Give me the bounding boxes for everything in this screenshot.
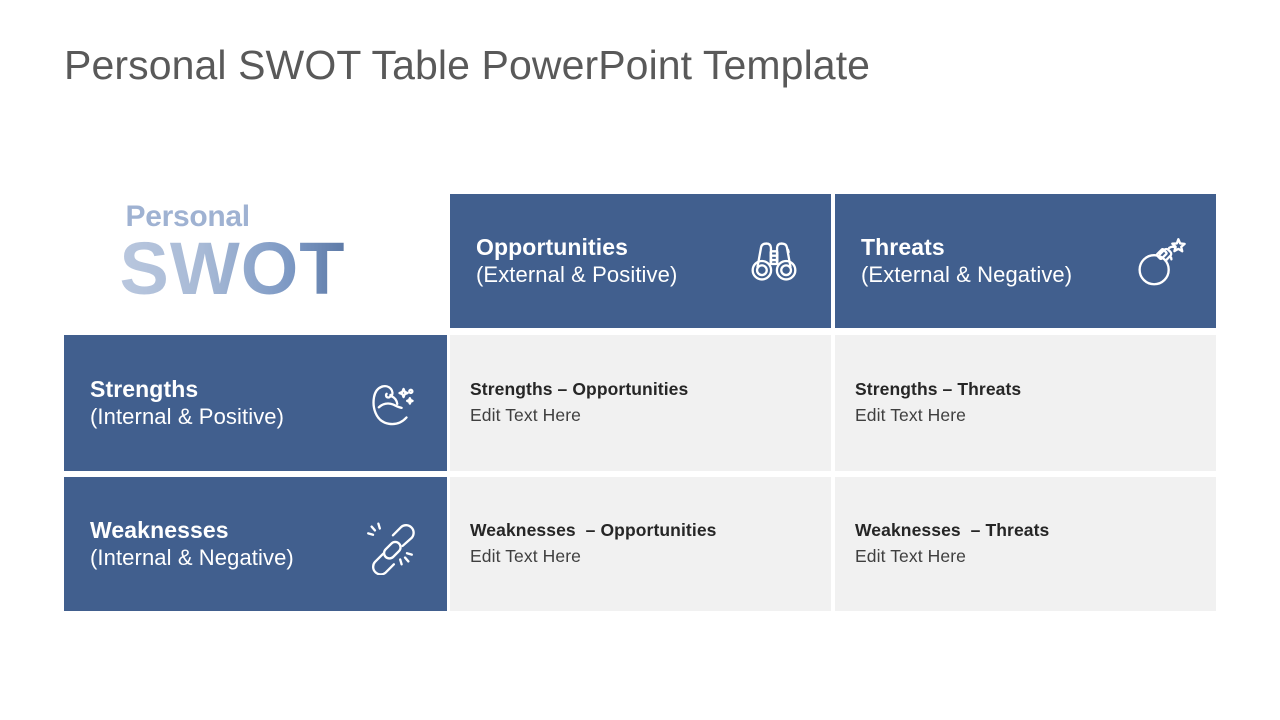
header-weaknesses-title: Weaknesses (90, 517, 294, 544)
cell-weaknesses-threats-title: Weaknesses – Threats (855, 519, 1049, 542)
cell-strengths-opportunities-title: Strengths – Opportunities (470, 378, 688, 401)
header-threats-text: Threats (External & Negative) (861, 234, 1072, 287)
binoculars-icon (743, 230, 805, 292)
header-threats-subtitle: (External & Negative) (861, 262, 1072, 288)
cell-weaknesses-threats-body[interactable]: Edit Text Here (855, 545, 966, 569)
page-title: Personal SWOT Table PowerPoint Template (64, 42, 870, 89)
cell-weaknesses-opportunities[interactable]: Weaknesses – Opportunities Edit Text Her… (450, 477, 831, 611)
header-threats-title: Threats (861, 234, 1072, 261)
header-strengths-title: Strengths (90, 376, 284, 403)
cell-strengths-opportunities[interactable]: Strengths – Opportunities Edit Text Here (450, 335, 831, 471)
cell-strengths-threats-title: Strengths – Threats (855, 378, 1021, 401)
header-strengths-text: Strengths (Internal & Positive) (90, 376, 284, 429)
broken-chain-icon (359, 513, 421, 575)
cell-strengths-opportunities-body[interactable]: Edit Text Here (470, 404, 581, 428)
header-strengths[interactable]: Strengths (Internal & Positive) (64, 335, 447, 471)
header-opportunities-subtitle: (External & Positive) (476, 262, 677, 288)
flexed-bicep-icon (359, 372, 421, 434)
cell-strengths-threats[interactable]: Strengths – Threats Edit Text Here (835, 335, 1216, 471)
header-weaknesses-subtitle: (Internal & Negative) (90, 545, 294, 571)
cell-strengths-threats-body[interactable]: Edit Text Here (855, 404, 966, 428)
header-weaknesses[interactable]: Weaknesses (Internal & Negative) (64, 477, 447, 611)
swot-logo: Personal SWOT (64, 180, 447, 327)
cell-weaknesses-opportunities-body[interactable]: Edit Text Here (470, 545, 581, 569)
header-weaknesses-text: Weaknesses (Internal & Negative) (90, 517, 294, 570)
logo-swot-text: SWOT (120, 234, 392, 304)
header-threats[interactable]: Threats (External & Negative) (835, 194, 1216, 328)
swot-slide: Personal SWOT Table PowerPoint Template … (0, 0, 1280, 720)
header-strengths-subtitle: (Internal & Positive) (90, 404, 284, 430)
bomb-icon (1128, 230, 1190, 292)
header-opportunities[interactable]: Opportunities (External & Positive) (450, 194, 831, 328)
header-opportunities-title: Opportunities (476, 234, 677, 261)
header-opportunities-text: Opportunities (External & Positive) (476, 234, 677, 287)
cell-weaknesses-threats[interactable]: Weaknesses – Threats Edit Text Here (835, 477, 1216, 611)
cell-weaknesses-opportunities-title: Weaknesses – Opportunities (470, 519, 717, 542)
